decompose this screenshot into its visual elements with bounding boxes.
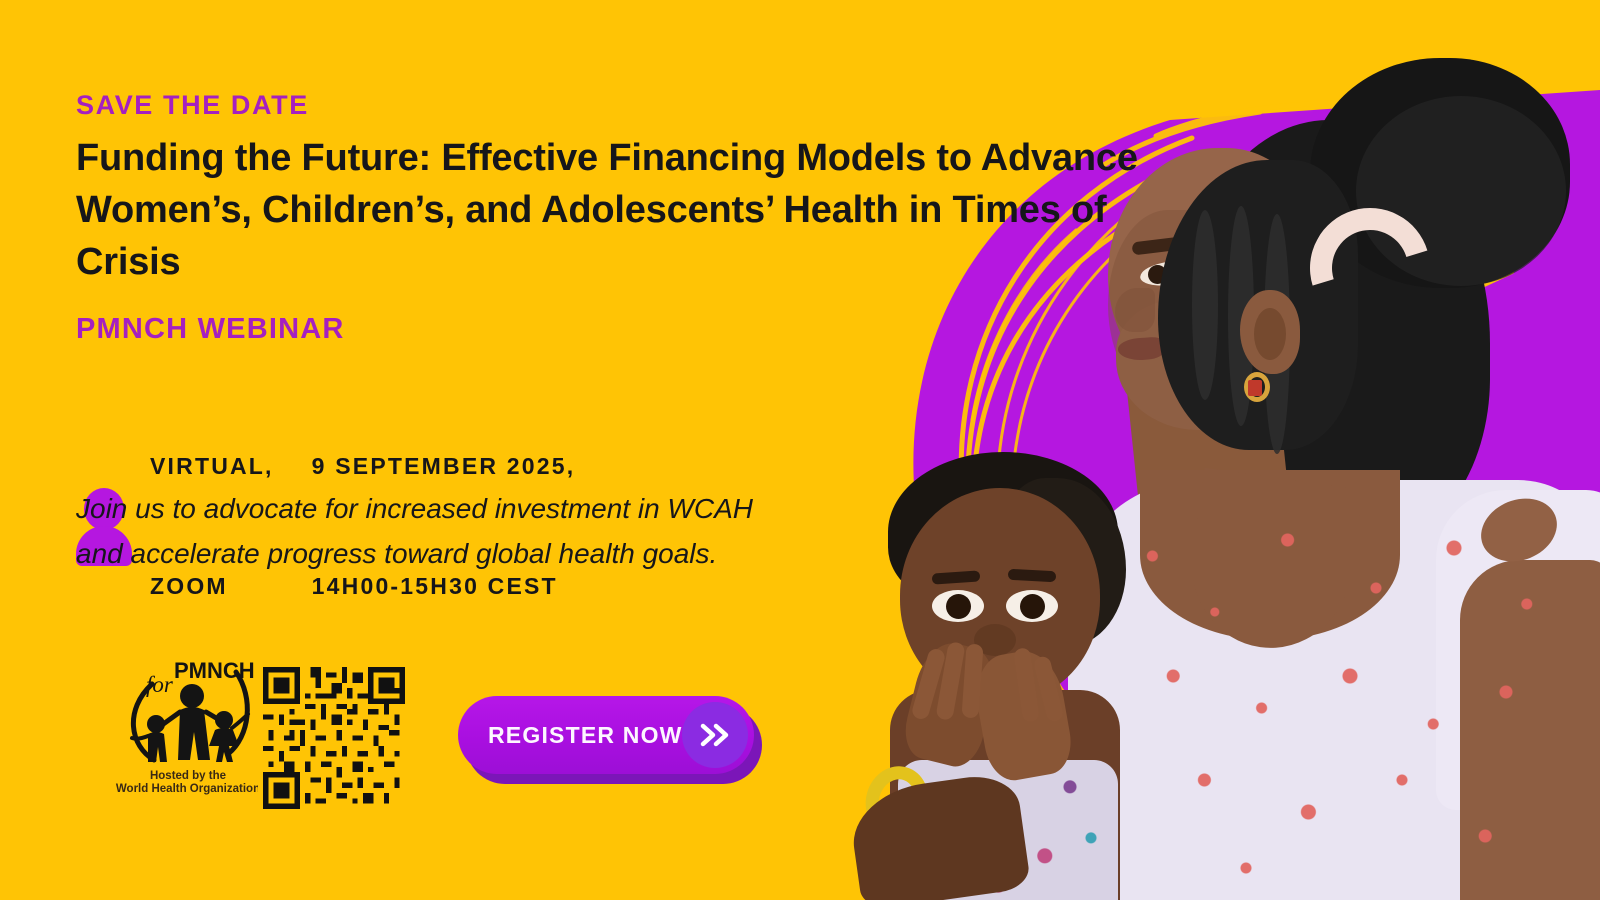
pmnch-logo: for PMNCH (98, 650, 278, 796)
pmnch-logo-caption: Hosted by the World Health Organization (98, 770, 278, 796)
webinar-save-the-date-banner: SAVE THE DATE Funding the Future: Effect… (0, 0, 1600, 900)
event-description: Join us to advocate for increased invest… (76, 486, 756, 576)
woman-hair-twist (1192, 210, 1218, 400)
event-format-line1: VIRTUAL, (150, 446, 274, 486)
page-title: Funding the Future: Effective Financing … (76, 132, 1166, 288)
woman-ear-inner (1254, 308, 1286, 360)
svg-text:PMNCH: PMNCH (174, 658, 255, 683)
register-now-label: REGISTER NOW (488, 722, 683, 749)
double-chevron-right-icon[interactable] (682, 702, 748, 768)
qr-code[interactable] (258, 662, 410, 814)
register-cta[interactable]: REGISTER NOW (458, 696, 754, 774)
woman-earring-bead (1248, 380, 1262, 396)
logo-caption-line2: World Health Organization (98, 783, 278, 796)
logo-caption-line1: Hosted by the (98, 770, 278, 783)
eyebrow-save-the-date: SAVE THE DATE (76, 90, 309, 121)
svg-text:for: for (146, 672, 174, 697)
subheading-pmnch-webinar: PMNCH WEBINAR (76, 313, 345, 346)
event-date: 9 SEPTEMBER 2025, (312, 446, 576, 486)
pmnch-logo-mark: for PMNCH (118, 650, 258, 768)
content-column: SAVE THE DATE Funding the Future: Effect… (76, 0, 1176, 900)
